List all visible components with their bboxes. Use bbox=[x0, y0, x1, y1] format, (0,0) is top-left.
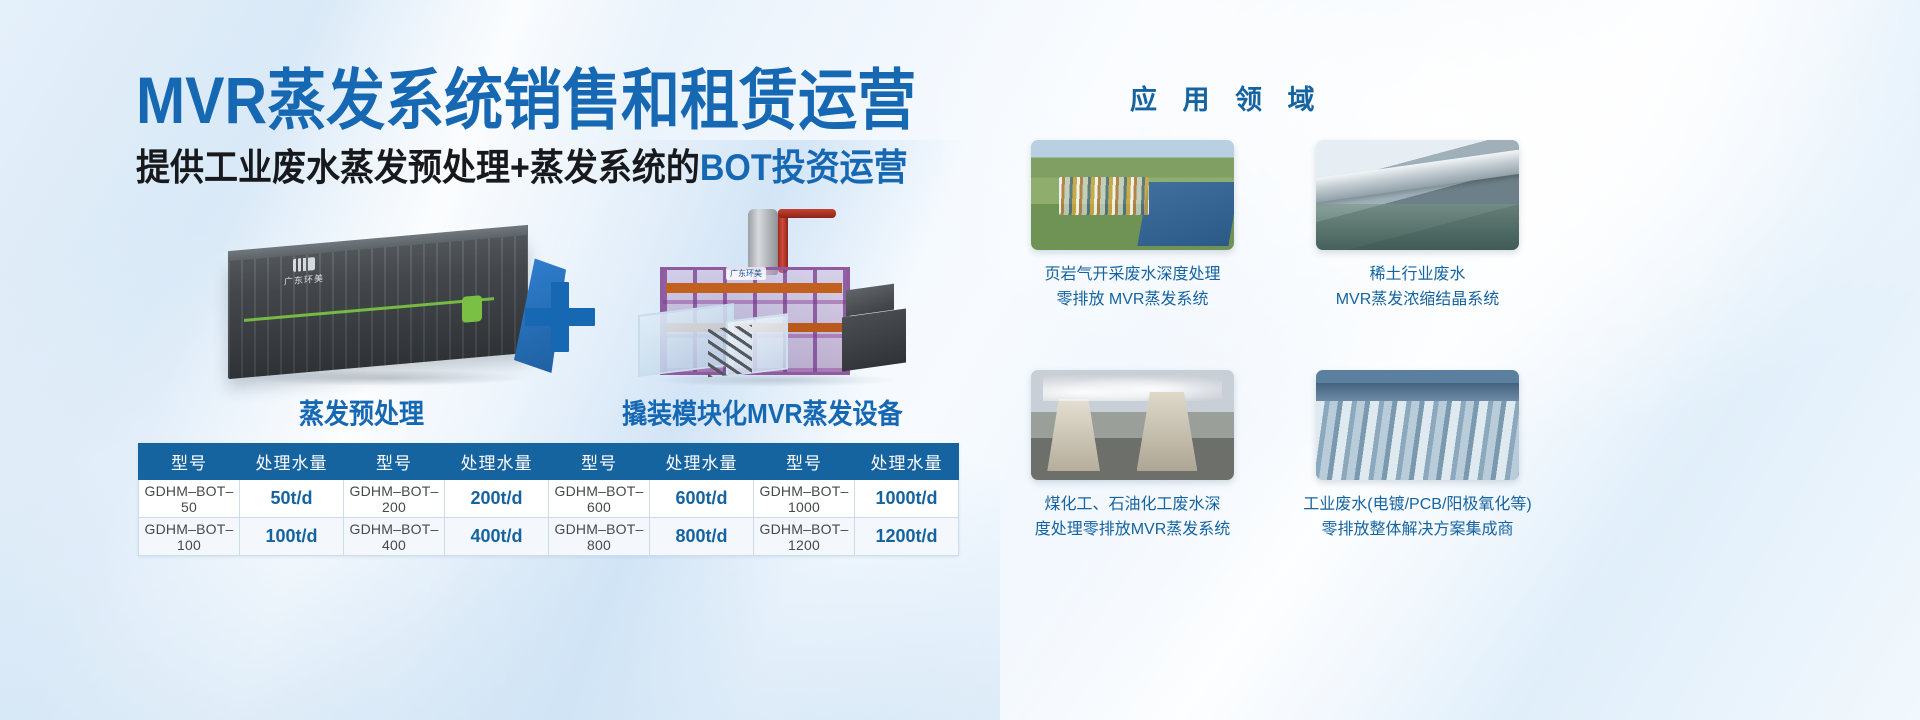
cell-model: GDHM–BOT–1000 bbox=[754, 480, 855, 518]
cell-model: GDHM–BOT–200 bbox=[344, 480, 445, 518]
cell-capacity: 50t/d bbox=[240, 480, 344, 518]
cell-capacity: 1000t/d bbox=[855, 480, 959, 518]
skid-pipe-vertical bbox=[778, 209, 788, 273]
product-caption-pretreatment: 蒸发预处理 bbox=[299, 392, 424, 432]
page-subtitle: 提供工业废水蒸发预处理+蒸发系统的BOT投资运营 bbox=[136, 150, 908, 187]
skid-stairs bbox=[708, 325, 752, 378]
table-row: GDHM–BOT–50 50t/d GDHM–BOT–200 200t/d GD… bbox=[139, 480, 959, 518]
caption-line-1: 工业废水(电镀/PCB/阳极氧化等) bbox=[1290, 493, 1545, 518]
column-header-model-3: 型号 bbox=[549, 444, 650, 480]
brand-logo: 广东环美 bbox=[284, 256, 324, 288]
skid-shadow bbox=[650, 373, 900, 387]
product-caption-skid: 撬装模块化MVR蒸发设备 bbox=[622, 392, 903, 432]
application-caption: 工业废水(电镀/PCB/阳极氧化等) 零排放整体解决方案集成商 bbox=[1290, 493, 1545, 543]
skid-tank bbox=[748, 209, 778, 275]
application-caption: 稀土行业废水 MVR蒸发浓缩结晶系统 bbox=[1290, 263, 1545, 313]
column-header-capacity-4: 处理水量 bbox=[855, 444, 959, 480]
product-illustrations: 广东环美 广东环美 bbox=[130, 210, 960, 420]
caption-line-1: 煤化工、石油化工废水深 bbox=[1005, 493, 1260, 518]
caption-line-2: 度处理零排放MVR蒸发系统 bbox=[1005, 518, 1260, 543]
column-header-model-1: 型号 bbox=[139, 444, 240, 480]
table-header-row: 型号 处理水量 型号 处理水量 型号 处理水量 型号 处理水量 bbox=[139, 444, 959, 480]
skid-equipment-box bbox=[842, 309, 906, 372]
smoke-plume bbox=[1043, 372, 1222, 401]
cell-model: GDHM–BOT–800 bbox=[549, 518, 650, 556]
table-row: GDHM–BOT–100 100t/d GDHM–BOT–400 400t/d … bbox=[139, 518, 959, 556]
cell-capacity: 800t/d bbox=[650, 518, 754, 556]
application-card-coal-chemical: 煤化工、石油化工废水深 度处理零排放MVR蒸发系统 bbox=[1005, 370, 1260, 543]
brand-name: 广东环美 bbox=[284, 273, 324, 287]
caption-line-2: 零排放 MVR蒸发系统 bbox=[1005, 288, 1260, 313]
subtitle-text: 提供工业废水蒸发预处理+蒸发系统的 bbox=[136, 148, 700, 189]
applications-title: 应 用 领 域 bbox=[1130, 78, 1324, 117]
cell-model: GDHM–BOT–1200 bbox=[754, 518, 855, 556]
caption-line-2: 零排放整体解决方案集成商 bbox=[1290, 518, 1545, 543]
specification-table: 型号 处理水量 型号 处理水量 型号 处理水量 型号 处理水量 GDHM–BOT… bbox=[138, 443, 959, 556]
applications-column: 应 用 领 域 页岩气开采废水深度处理 零排放 MVR蒸发系统 稀土行业废水 M… bbox=[990, 0, 1920, 720]
page-title: MVR蒸发系统销售和租赁运营 bbox=[136, 68, 916, 134]
cell-capacity: 600t/d bbox=[650, 480, 754, 518]
brand-mark-icon bbox=[293, 257, 315, 272]
left-content-column: MVR蒸发系统销售和租赁运营 提供工业废水蒸发预处理+蒸发系统的BOT投资运营 … bbox=[0, 0, 990, 720]
cell-model: GDHM–BOT–400 bbox=[344, 518, 445, 556]
caption-line-1: 页岩气开采废水深度处理 bbox=[1005, 263, 1260, 288]
skid-mvr-icon: 广东环美 bbox=[630, 205, 930, 410]
subtitle-accent: BOT投资运营 bbox=[700, 148, 908, 189]
column-header-capacity-1: 处理水量 bbox=[240, 444, 344, 480]
coal-chemical-towers-thumb bbox=[1031, 370, 1234, 480]
application-caption: 煤化工、石油化工废水深 度处理零排放MVR蒸发系统 bbox=[1005, 493, 1260, 543]
cell-model: GDHM–BOT–100 bbox=[139, 518, 240, 556]
wastewater-basin-thumb bbox=[1316, 370, 1519, 480]
brand-name: 广东环美 bbox=[726, 267, 766, 280]
column-header-capacity-2: 处理水量 bbox=[445, 444, 549, 480]
column-header-capacity-3: 处理水量 bbox=[650, 444, 754, 480]
cell-model: GDHM–BOT–600 bbox=[549, 480, 650, 518]
application-card-industrial-wastewater: 工业废水(电镀/PCB/阳极氧化等) 零排放整体解决方案集成商 bbox=[1290, 370, 1545, 543]
application-card-rare-earth: 稀土行业废水 MVR蒸发浓缩结晶系统 bbox=[1290, 140, 1545, 313]
application-caption: 页岩气开采废水深度处理 零排放 MVR蒸发系统 bbox=[1005, 263, 1260, 313]
cell-capacity: 100t/d bbox=[240, 518, 344, 556]
container-green-panel bbox=[462, 295, 482, 323]
caption-line-1: 稀土行业废水 bbox=[1290, 263, 1545, 288]
plus-icon bbox=[525, 282, 595, 352]
cell-model: GDHM–BOT–50 bbox=[139, 480, 240, 518]
shale-gas-field-thumb bbox=[1031, 140, 1234, 250]
skid-orange-beam-top bbox=[666, 283, 842, 293]
promo-banner: MVR蒸发系统销售和租赁运营 提供工业废水蒸发预处理+蒸发系统的BOT投资运营 … bbox=[0, 0, 1920, 720]
container-unit-icon: 广东环美 bbox=[210, 230, 560, 405]
skid-pipe-horizontal bbox=[778, 209, 836, 218]
rare-earth-pipes-thumb bbox=[1316, 140, 1519, 250]
caption-line-2: MVR蒸发浓缩结晶系统 bbox=[1290, 288, 1545, 313]
column-header-model-4: 型号 bbox=[754, 444, 855, 480]
cell-capacity: 200t/d bbox=[445, 480, 549, 518]
cell-capacity: 400t/d bbox=[445, 518, 549, 556]
column-header-model-2: 型号 bbox=[344, 444, 445, 480]
cell-capacity: 1200t/d bbox=[855, 518, 959, 556]
application-card-shale-gas: 页岩气开采废水深度处理 零排放 MVR蒸发系统 bbox=[1005, 140, 1260, 313]
